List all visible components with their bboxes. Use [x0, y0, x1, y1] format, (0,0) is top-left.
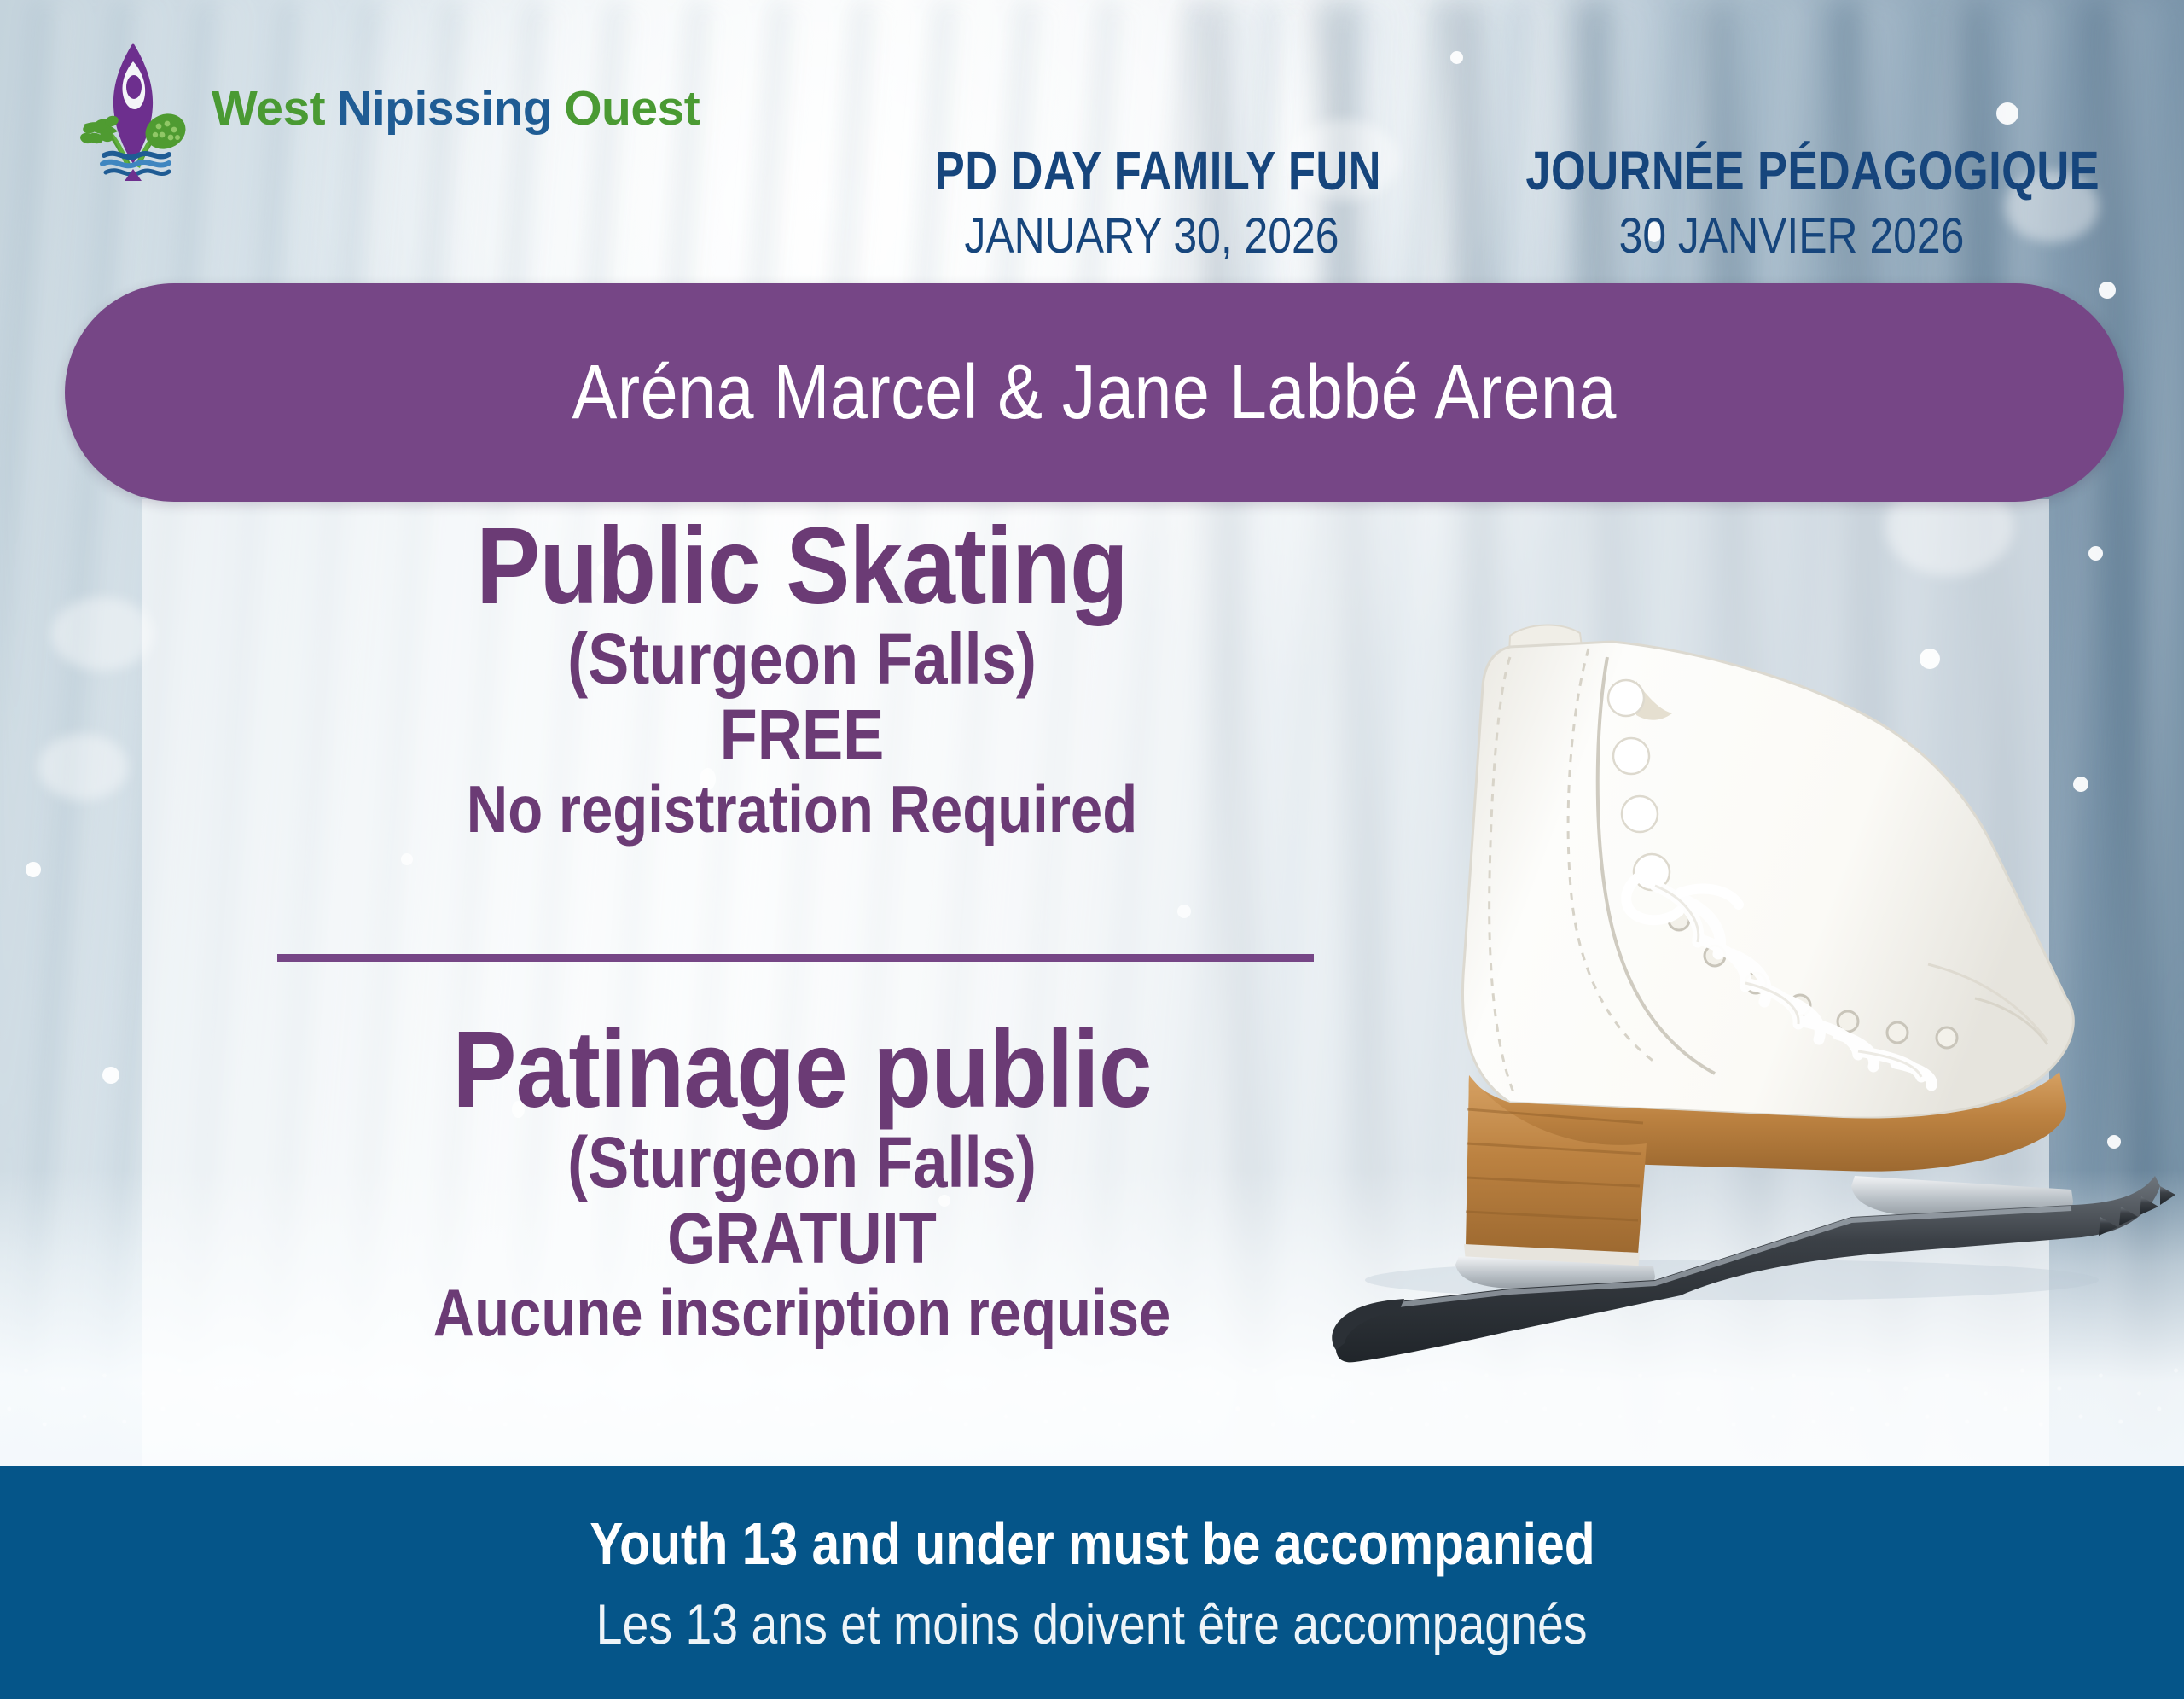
footer-notice-french: Les 13 ans et moins doivent être accompa… [596, 1591, 1588, 1656]
brand-name: WestNipissingOuest [212, 84, 700, 133]
activity-french-block: Patinage public (Sturgeon Falls) GRATUIT… [239, 1015, 1365, 1350]
footer-notice-english: Youth 13 and under must be accompanied [590, 1510, 1594, 1578]
bokeh-circle [51, 597, 154, 671]
venue-banner: Aréna Marcel & Jane Labbé Arena [65, 283, 2124, 502]
header-french: JOURNÉE PÉDAGOGIQUE 30 JANVIER 2026 [1467, 143, 2116, 264]
brand-name-part2: Nipissing [337, 81, 552, 136]
activity-english-title: Public Skating [306, 512, 1298, 621]
snowflake [102, 1067, 119, 1084]
brand-logo: WestNipissingOuest [73, 36, 700, 181]
header-english: PD DAY FAMILY FUN JANUARY 30, 2026 [887, 143, 1416, 264]
activity-french-title: Patinage public [306, 1015, 1298, 1125]
header-english-date: JANUARY 30, 2026 [924, 209, 1379, 264]
activity-english-location: (Sturgeon Falls) [317, 621, 1286, 697]
header-french-title: JOURNÉE PÉDAGOGIQUE [1525, 143, 2057, 199]
west-nipissing-trillium-logo-icon [73, 36, 193, 181]
section-divider [277, 954, 1314, 962]
bokeh-circle [38, 734, 128, 800]
activity-english-price: FREE [317, 697, 1286, 773]
activity-french-registration: Aucune inscription requise [317, 1277, 1286, 1350]
venue-name: Aréna Marcel & Jane Labbé Arena [572, 349, 1617, 437]
activity-english-block: Public Skating (Sturgeon Falls) FREE No … [239, 512, 1365, 847]
header-english-title: PD DAY FAMILY FUN [935, 143, 1368, 199]
poster-root: WestNipissingOuest PD DAY FAMILY FUN JAN… [0, 0, 2184, 1699]
activity-french-price: GRATUIT [317, 1201, 1286, 1277]
snowflake [2088, 546, 2103, 561]
brand-name-part1: West [212, 81, 325, 136]
poster-footer: Youth 13 and under must be accompanied L… [0, 1466, 2184, 1699]
brand-name-part3: Ouest [564, 81, 700, 136]
snowflake [26, 862, 41, 877]
activity-english-registration: No registration Required [317, 773, 1286, 847]
white-figure-skate-icon [1254, 597, 2184, 1374]
header-french-date: 30 JANVIER 2026 [1513, 209, 2071, 264]
poster-header: WestNipissingOuest PD DAY FAMILY FUN JAN… [0, 0, 2184, 286]
activity-french-location: (Sturgeon Falls) [317, 1125, 1286, 1201]
